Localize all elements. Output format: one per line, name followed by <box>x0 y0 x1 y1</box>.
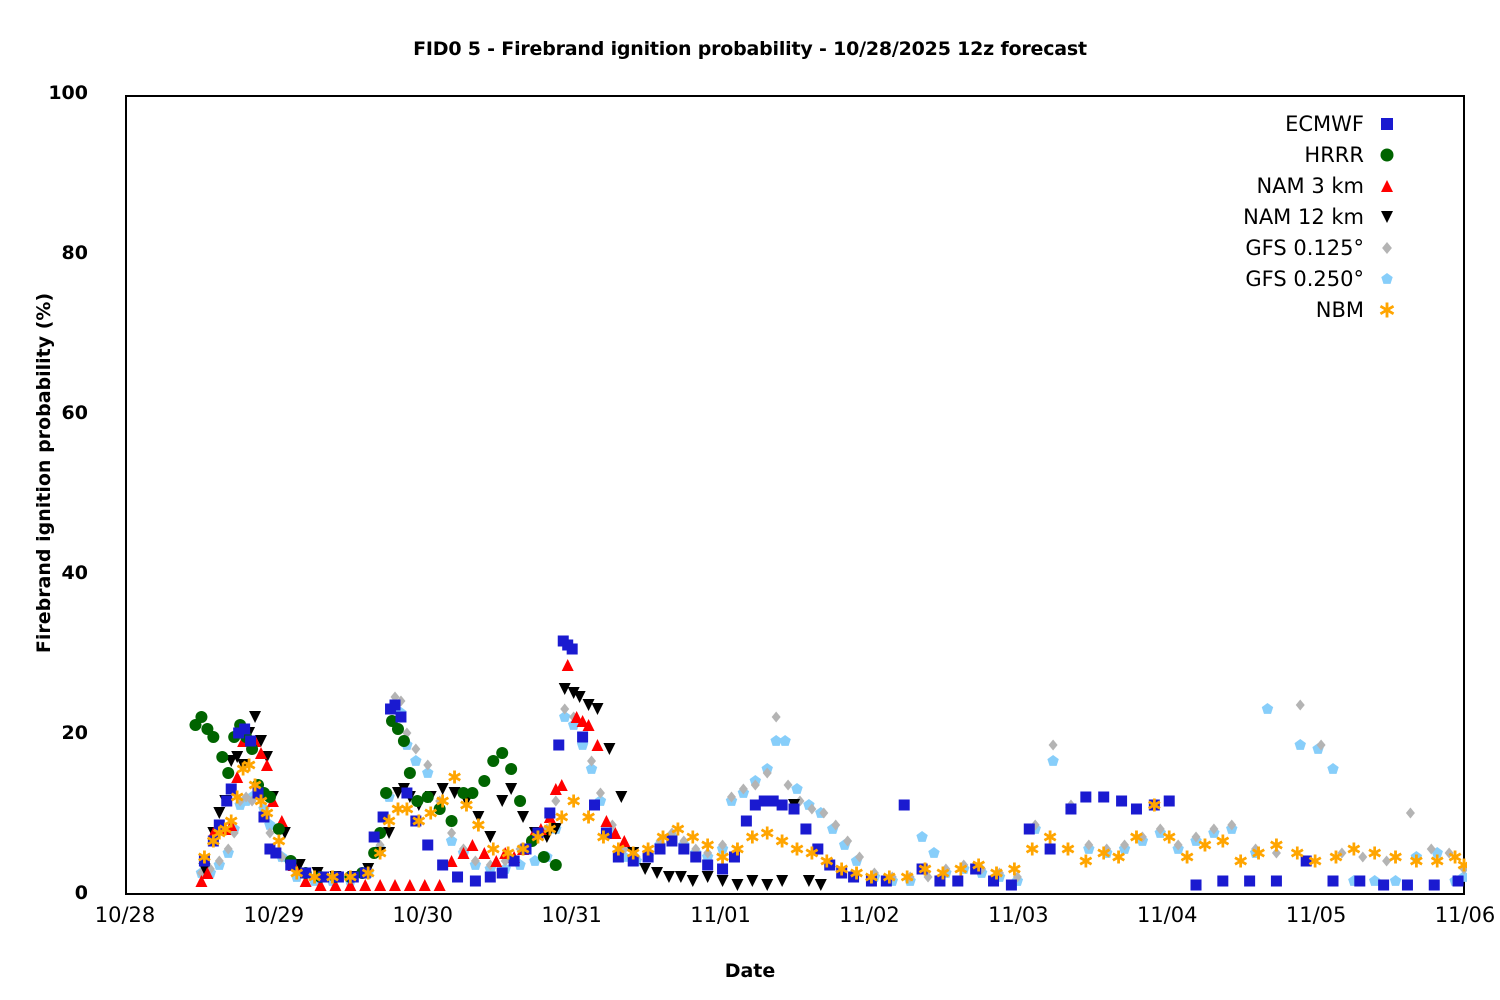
x-axis-label: Date <box>0 960 1500 982</box>
legend-label: GFS 0.250° <box>1245 267 1364 291</box>
x-tick-label: 11/02 <box>789 903 949 927</box>
legend-marker-asterisk-icon <box>1364 298 1410 322</box>
y-tick-label: 0 <box>0 882 88 904</box>
page-title: FID0 5 - Firebrand ignition probability … <box>0 38 1500 60</box>
x-tick-label: 10/30 <box>343 903 503 927</box>
x-tick-label: 10/29 <box>194 903 354 927</box>
legend-label: GFS 0.125° <box>1245 236 1364 260</box>
y-tick-label: 100 <box>0 82 88 104</box>
legend-label: NAM 12 km <box>1243 205 1364 229</box>
x-tick-label: 11/05 <box>1236 903 1396 927</box>
legend-item-hrrr[interactable]: HRRR <box>1150 139 1410 170</box>
x-tick-label: 11/06 <box>1385 903 1500 927</box>
x-tick-label: 11/04 <box>1087 903 1247 927</box>
legend-item-gfs-0-250[interactable]: GFS 0.250° <box>1150 263 1410 294</box>
y-tick-label: 60 <box>0 402 88 424</box>
legend-item-gfs-0-125[interactable]: GFS 0.125° <box>1150 232 1410 263</box>
chart-legend: ECMWFHRRRNAM 3 kmNAM 12 kmGFS 0.125°GFS … <box>1150 108 1410 325</box>
x-tick-label: 10/28 <box>45 903 205 927</box>
y-axis-label: Firebrand ignition probability (%) <box>33 243 55 703</box>
legend-label: NBM <box>1316 298 1364 322</box>
y-tick-label: 80 <box>0 242 88 264</box>
legend-label: HRRR <box>1304 143 1364 167</box>
legend-marker-pentagon-icon <box>1364 267 1410 291</box>
legend-marker-square-icon <box>1364 112 1410 136</box>
legend-item-ecmwf[interactable]: ECMWF <box>1150 108 1410 139</box>
legend-label: NAM 3 km <box>1256 174 1364 198</box>
legend-marker-circle-icon <box>1364 143 1410 167</box>
x-tick-label: 10/31 <box>492 903 652 927</box>
y-tick-label: 40 <box>0 562 88 584</box>
legend-item-nbm[interactable]: NBM <box>1150 294 1410 325</box>
y-tick-label: 20 <box>0 722 88 744</box>
x-tick-label: 11/03 <box>938 903 1098 927</box>
legend-marker-triangle-down-icon <box>1364 205 1410 229</box>
legend-item-nam-3-km[interactable]: NAM 3 km <box>1150 170 1410 201</box>
legend-label: ECMWF <box>1285 112 1364 136</box>
x-tick-label: 11/01 <box>641 903 801 927</box>
legend-marker-diamond-icon <box>1364 236 1410 260</box>
legend-item-nam-12-km[interactable]: NAM 12 km <box>1150 201 1410 232</box>
legend-marker-triangle-up-icon <box>1364 174 1410 198</box>
chart-page: FID0 5 - Firebrand ignition probability … <box>0 0 1500 1000</box>
